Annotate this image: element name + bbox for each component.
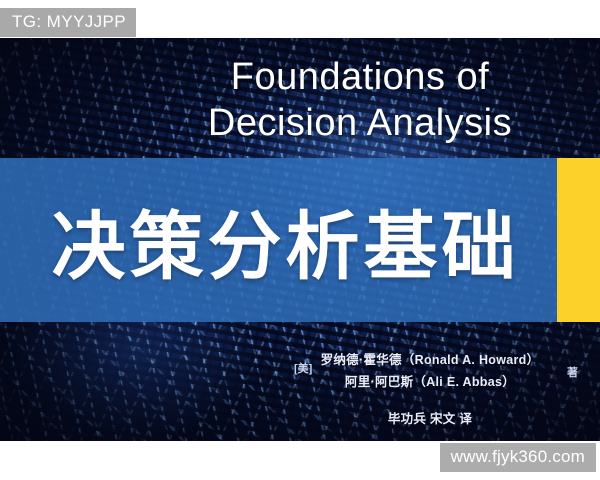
author-country-mark: [美] bbox=[294, 360, 312, 376]
author-name-1: 罗纳德·霍华德（Ronald A. Howard） bbox=[280, 350, 580, 372]
book-cover-page: Foundations of Decision Analysis 决策分析基础 … bbox=[0, 0, 600, 480]
author-name-2: 阿里·阿巴斯（Ali E. Abbas） bbox=[280, 372, 580, 394]
watermark-top-left: TG: MYYJJPP bbox=[0, 8, 136, 37]
english-title: Foundations of Decision Analysis bbox=[150, 54, 570, 147]
title-band-yellow-accent bbox=[557, 158, 600, 322]
author-role-mark: 著 bbox=[567, 364, 578, 380]
author-block: [美] 著 罗纳德·霍华德（Ronald A. Howard） 阿里·阿巴斯（A… bbox=[280, 350, 580, 427]
author-row: [美] 著 罗纳德·霍华德（Ronald A. Howard） 阿里·阿巴斯（A… bbox=[280, 350, 580, 394]
translator-line: 毕功兵 宋文 译 bbox=[280, 408, 580, 427]
watermark-bottom-right: www.fjyk360.com bbox=[440, 443, 596, 472]
chinese-title: 决策分析基础 bbox=[0, 158, 557, 322]
book-cover-image: Foundations of Decision Analysis 决策分析基础 … bbox=[0, 38, 600, 441]
title-band: 决策分析基础 bbox=[0, 158, 600, 322]
